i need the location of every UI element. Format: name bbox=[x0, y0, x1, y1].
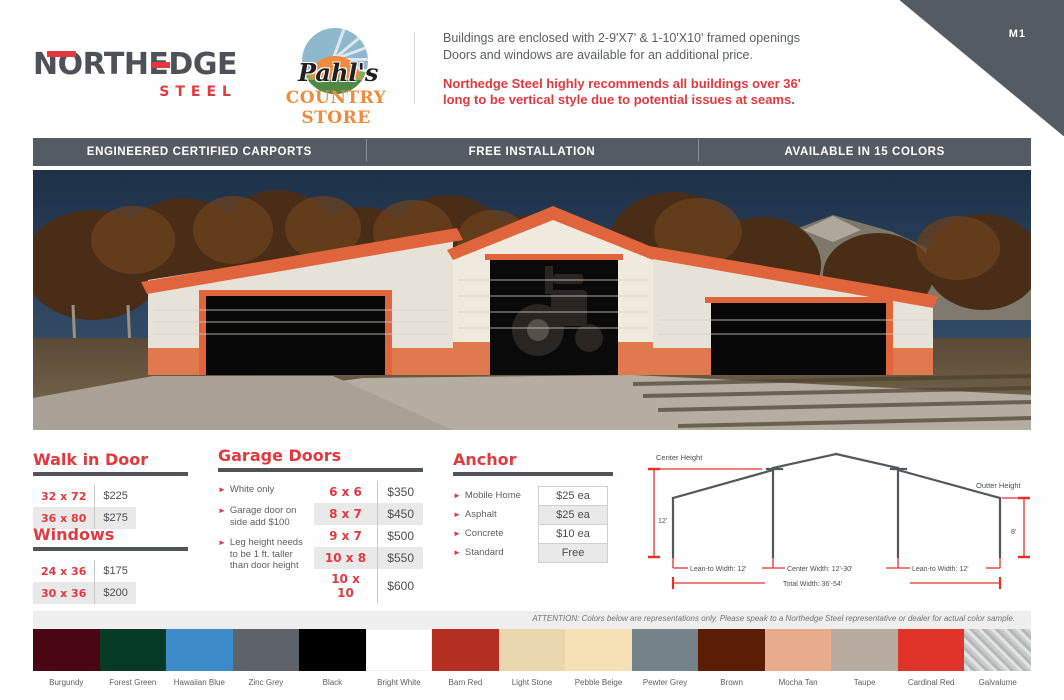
garage-size-0: 6 x 6 bbox=[314, 481, 378, 503]
table-row: 32 x 72 $225 bbox=[33, 485, 136, 507]
window-size-0: 24 x 36 bbox=[33, 560, 95, 582]
color-swatch-mocha-tan: Mocha Tan bbox=[765, 629, 832, 687]
list-item: ► Standard bbox=[453, 543, 538, 562]
windows-rule bbox=[33, 547, 188, 551]
header-warning-line-2: long to be vertical style due to potenti… bbox=[443, 92, 893, 108]
attention-bar: ATTENTION: Colors below are representati… bbox=[33, 611, 1031, 629]
garage-price-2: $500 bbox=[378, 525, 423, 547]
garage-note-0: White only bbox=[230, 484, 274, 496]
swatch-label: Forest Green bbox=[100, 678, 167, 687]
pahls-country-store-logo: Pahl's COUNTRY STORE bbox=[272, 28, 400, 114]
diagram-center-height-label: Center Height bbox=[656, 453, 703, 462]
color-swatch-cardinal-red: Cardinal Red bbox=[898, 629, 965, 687]
list-item: ► Asphalt bbox=[453, 505, 538, 524]
swatch-chip bbox=[765, 629, 832, 671]
list-item: ► Leg height needs to be 1 ft. taller th… bbox=[218, 537, 310, 572]
garage-doors-notes: ► White only ► Garage door on side add $… bbox=[218, 481, 310, 603]
anchor-price-table: $25 ea $25 ea $10 ea Free bbox=[538, 486, 608, 563]
building-dimension-diagram: Center Height Outter Height 12' 8' Lean-… bbox=[640, 450, 1036, 590]
swatch-label: Pewter Grey bbox=[632, 678, 699, 687]
anchor-type-2: Concrete bbox=[465, 528, 504, 539]
bullet-triangle-icon: ► bbox=[218, 537, 226, 572]
svg-text:Total Width: 36'-54': Total Width: 36'-54' bbox=[783, 581, 842, 588]
walk-in-door-table: 32 x 72 $225 36 x 80 $275 bbox=[33, 485, 136, 529]
northedge-wordmark: NORTHEDGE bbox=[33, 50, 237, 80]
swatch-label: Bright White bbox=[366, 678, 433, 687]
windows-title: Windows bbox=[33, 525, 188, 544]
building-hero-image bbox=[33, 170, 1031, 430]
swatch-label: Taupe bbox=[831, 678, 898, 687]
garage-doors-title: Garage Doors bbox=[218, 446, 423, 465]
table-row: 8 x 7 $450 bbox=[314, 503, 423, 525]
table-row: 6 x 6 $350 bbox=[314, 481, 423, 503]
swatch-label: Burgundy bbox=[33, 678, 100, 687]
list-item: ► Mobile Home bbox=[453, 486, 538, 505]
swatch-chip bbox=[33, 629, 100, 671]
northedge-steel-subtext: STEEL bbox=[33, 84, 237, 100]
color-swatch-burgundy: Burgundy bbox=[33, 629, 100, 687]
windows-table: 24 x 36 $175 30 x 36 $200 bbox=[33, 560, 136, 604]
color-swatch-pewter-grey: Pewter Grey bbox=[632, 629, 699, 687]
swatch-chip bbox=[831, 629, 898, 671]
table-row: 30 x 36 $200 bbox=[33, 582, 136, 604]
garage-doors-table: 6 x 6 $350 8 x 7 $450 9 x 7 $500 10 x 8 … bbox=[314, 481, 423, 603]
anchor-type-3: Standard bbox=[465, 547, 504, 558]
garage-note-1: Garage door on side add $100 bbox=[230, 505, 310, 528]
swatch-label: Hawaiian Blue bbox=[166, 678, 233, 687]
bullet-triangle-icon: ► bbox=[453, 509, 461, 521]
corner-triangle-decoration bbox=[900, 0, 1064, 136]
garage-note-2: Leg height needs to be 1 ft. taller than… bbox=[230, 537, 310, 572]
windows-section: Windows 24 x 36 $175 30 x 36 $200 bbox=[33, 525, 188, 604]
list-item: ► Garage door on side add $100 bbox=[218, 505, 310, 528]
header-note-line-1: Buildings are enclosed with 2-9'X7' & 1-… bbox=[443, 30, 893, 47]
swatch-chip bbox=[100, 629, 167, 671]
swatch-chip bbox=[964, 629, 1031, 671]
diagram-lean-to-right: Lean-to Width: 12' bbox=[912, 566, 969, 573]
swatch-chip bbox=[432, 629, 499, 671]
pahls-script-text: Pahl's bbox=[298, 58, 378, 87]
swatch-chip bbox=[366, 629, 433, 671]
attention-text: ATTENTION: Colors below are representati… bbox=[532, 614, 1015, 623]
northedge-red-tick-icon bbox=[47, 51, 76, 57]
color-swatch-light-stone: Light Stone bbox=[499, 629, 566, 687]
walk-door-size-0: 32 x 72 bbox=[33, 485, 95, 507]
table-row: 10 x 8 $550 bbox=[314, 547, 423, 569]
anchor-rule bbox=[453, 472, 613, 476]
garage-price-3: $550 bbox=[378, 547, 423, 569]
pahls-country-store-text: COUNTRY STORE bbox=[272, 88, 400, 128]
color-swatch-taupe: Taupe bbox=[831, 629, 898, 687]
garage-price-0: $350 bbox=[378, 481, 423, 503]
diagram-center-width: Center Width: 12'-30' bbox=[787, 566, 852, 573]
header-note-line-2: Doors and windows are available for an a… bbox=[443, 47, 893, 64]
swatch-label: Mocha Tan bbox=[765, 678, 832, 687]
swatch-chip bbox=[698, 629, 765, 671]
anchor-section: Anchor ► Mobile Home ► Asphalt ► Concret… bbox=[453, 450, 613, 563]
window-price-1: $200 bbox=[95, 582, 136, 604]
bullet-triangle-icon: ► bbox=[453, 528, 461, 540]
swatch-label: Light Stone bbox=[499, 678, 566, 687]
swatch-label: Cardinal Red bbox=[898, 678, 965, 687]
swatch-label: Black bbox=[299, 678, 366, 687]
list-item: ► White only bbox=[218, 484, 310, 496]
color-swatch-bright-white: Bright White bbox=[366, 629, 433, 687]
anchor-type-0: Mobile Home bbox=[465, 490, 521, 501]
swatch-chip bbox=[565, 629, 632, 671]
color-swatch-black: Black bbox=[299, 629, 366, 687]
feature-free-installation: FREE INSTALLATION bbox=[366, 146, 699, 158]
color-swatch-galvalume: Galvalume bbox=[964, 629, 1031, 687]
table-row: 10 x 10 $600 bbox=[314, 569, 423, 603]
garage-size-4: 10 x 10 bbox=[314, 569, 378, 603]
garage-size-1: 8 x 7 bbox=[314, 503, 378, 525]
anchor-price-0: $25 ea bbox=[539, 487, 607, 506]
anchor-type-list: ► Mobile Home ► Asphalt ► Concrete ► Sta… bbox=[453, 486, 538, 563]
anchor-price-1: $25 ea bbox=[539, 506, 607, 525]
walk-door-price-0: $225 bbox=[95, 485, 136, 507]
diagram-center-height-value: 12' bbox=[658, 518, 667, 525]
garage-doors-section: Garage Doors ► White only ► Garage door … bbox=[218, 446, 423, 603]
swatch-chip bbox=[898, 629, 965, 671]
color-swatch-hawaiian-blue: Hawaiian Blue bbox=[166, 629, 233, 687]
northedge-logo: NORTHEDGE STEEL bbox=[33, 50, 237, 100]
swatch-chip bbox=[233, 629, 300, 671]
bullet-triangle-icon: ► bbox=[218, 484, 226, 496]
diagram-outer-height-label: Outter Height bbox=[976, 481, 1022, 490]
color-swatch-row: Burgundy Forest Green Hawaiian Blue Zinc… bbox=[33, 629, 1031, 687]
garage-price-4: $600 bbox=[378, 569, 423, 603]
header-warning-line-1: Northedge Steel highly recommends all bu… bbox=[443, 76, 893, 92]
garage-doors-rule bbox=[218, 468, 423, 472]
diagram-lean-to-left: Lean-to Width: 12' bbox=[690, 566, 747, 573]
feature-engineered-certified-carports: ENGINEERED CERTIFIED CARPORTS bbox=[33, 146, 366, 158]
swatch-chip bbox=[166, 629, 233, 671]
swatch-label: Pebble Beige bbox=[565, 678, 632, 687]
color-swatch-forest-green: Forest Green bbox=[100, 629, 167, 687]
anchor-price-3: Free bbox=[539, 544, 607, 563]
color-swatch-barn-red: Barn Red bbox=[432, 629, 499, 687]
header-divider bbox=[414, 32, 415, 104]
table-row: 24 x 36 $175 bbox=[33, 560, 136, 582]
walk-in-door-section: Walk in Door 32 x 72 $225 36 x 80 $275 bbox=[33, 450, 188, 529]
swatch-chip bbox=[299, 629, 366, 671]
swatch-chip bbox=[632, 629, 699, 671]
garage-size-2: 9 x 7 bbox=[314, 525, 378, 547]
bullet-triangle-icon: ► bbox=[453, 490, 461, 502]
feature-strip: ENGINEERED CERTIFIED CARPORTS FREE INSTA… bbox=[33, 138, 1031, 166]
anchor-type-1: Asphalt bbox=[465, 509, 497, 520]
swatch-label: Barn Red bbox=[432, 678, 499, 687]
swatch-label: Brown bbox=[698, 678, 765, 687]
northedge-red-bar-icon bbox=[152, 62, 170, 68]
anchor-price-2: $10 ea bbox=[539, 525, 607, 544]
swatch-label: Galvalume bbox=[964, 678, 1031, 687]
color-swatch-zinc-grey: Zinc Grey bbox=[233, 629, 300, 687]
color-swatch-brown: Brown bbox=[698, 629, 765, 687]
header-note-block: Buildings are enclosed with 2-9'X7' & 1-… bbox=[443, 30, 893, 108]
garage-price-1: $450 bbox=[378, 503, 423, 525]
bullet-triangle-icon: ► bbox=[218, 505, 226, 528]
garage-size-3: 10 x 8 bbox=[314, 547, 378, 569]
walk-in-door-rule bbox=[33, 472, 188, 476]
swatch-label: Zinc Grey bbox=[233, 678, 300, 687]
list-item: ► Concrete bbox=[453, 524, 538, 543]
barn-illustration bbox=[33, 170, 1031, 430]
diagram-outer-height-value: 8' bbox=[1011, 529, 1016, 536]
anchor-title: Anchor bbox=[453, 450, 613, 469]
model-code-label: M1 bbox=[1009, 28, 1026, 40]
window-size-1: 30 x 36 bbox=[33, 582, 95, 604]
feature-available-in-15-colors: AVAILABLE IN 15 COLORS bbox=[698, 146, 1031, 158]
swatch-chip bbox=[499, 629, 566, 671]
table-row: 9 x 7 $500 bbox=[314, 525, 423, 547]
color-swatch-pebble-beige: Pebble Beige bbox=[565, 629, 632, 687]
walk-in-door-title: Walk in Door bbox=[33, 450, 188, 469]
bullet-triangle-icon: ► bbox=[453, 547, 461, 559]
window-price-0: $175 bbox=[95, 560, 136, 582]
